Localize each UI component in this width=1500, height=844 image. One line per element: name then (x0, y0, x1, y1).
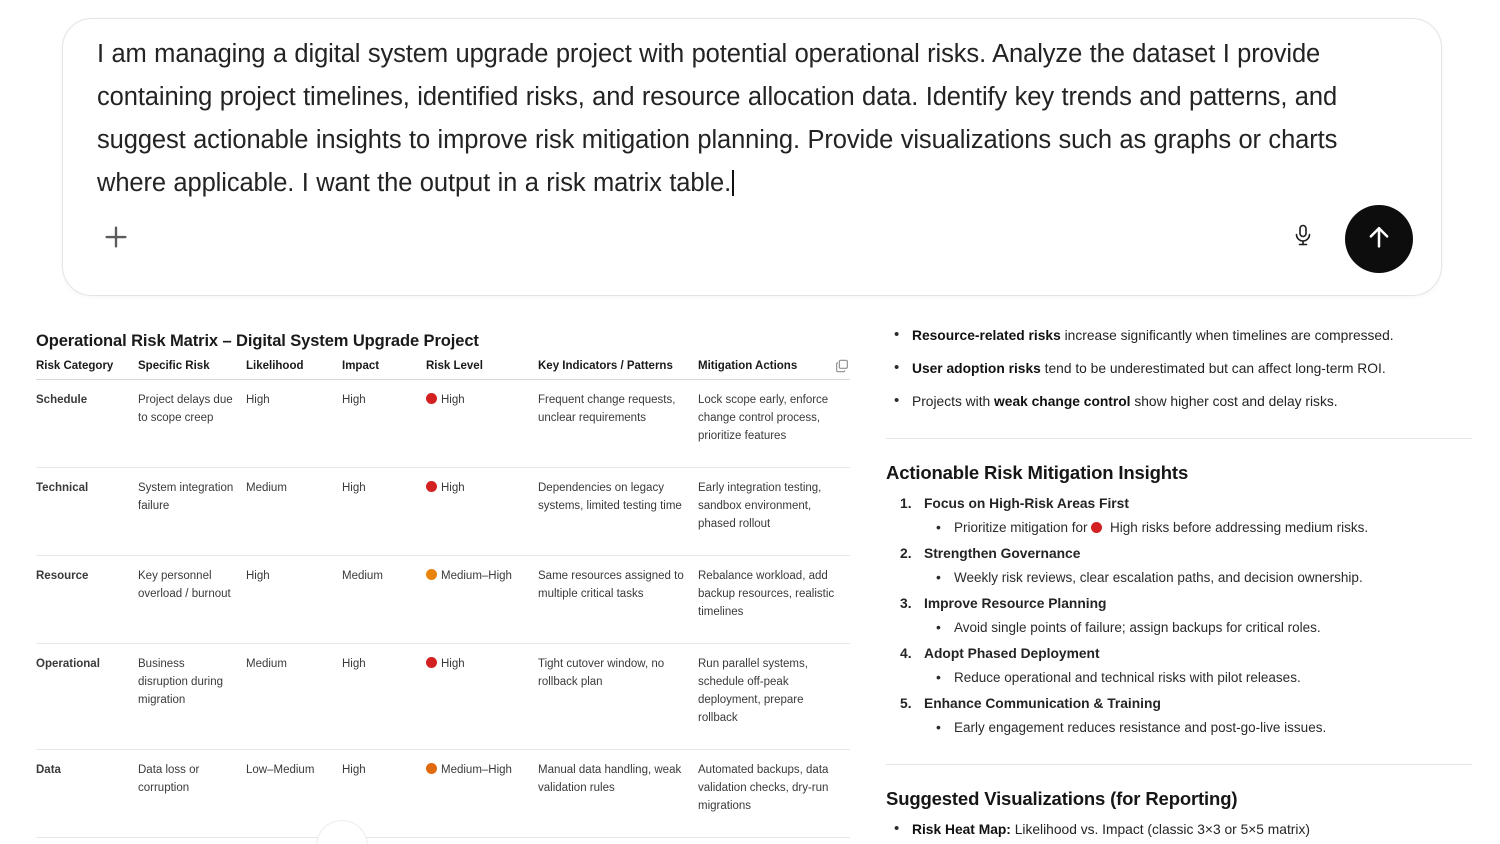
table-title: Operational Risk Matrix – Digital System… (36, 332, 850, 351)
cell-specific-risk: Data loss or corruption (138, 750, 246, 838)
cell-risk-level: Medium (426, 838, 538, 844)
cell-mitigation: Rebalance workload, add backup resources… (698, 556, 850, 644)
actionable-step-item: Strengthen GovernanceWeekly risk reviews… (886, 542, 1472, 590)
cell-risk-level: Medium–High (426, 750, 538, 838)
actionable-insights-heading: Actionable Risk Mitigation Insights (886, 461, 1472, 485)
key-trend-item: Resource-related risks increase signific… (886, 324, 1472, 348)
section-divider-2 (886, 764, 1472, 765)
key-trend-emphasis: weak change control (994, 394, 1130, 409)
actionable-step-details: Weekly risk reviews, clear escalation pa… (924, 566, 1472, 590)
microphone-icon (1291, 223, 1315, 252)
add-attachment-button[interactable] (96, 217, 136, 257)
answer-content: Operational Risk Matrix – Digital System… (0, 318, 1500, 844)
actionable-step-detail: Early engagement reduces resistance and … (924, 716, 1472, 740)
cell-category: Vendor (36, 838, 138, 844)
actionable-step-details: Prioritize mitigation for High risks bef… (924, 516, 1472, 540)
cell-category: Data (36, 750, 138, 838)
visualization-item: Risk Heat Map: Likelihood vs. Impact (cl… (886, 818, 1472, 842)
key-trends-list: Resource-related risks increase signific… (886, 324, 1472, 414)
risk-level-label: High (441, 658, 465, 670)
actionable-step-detail: Reduce operational and technical risks w… (924, 666, 1472, 690)
copy-icon[interactable] (834, 358, 850, 377)
table-header-row: Risk Category Specific Risk Likelihood I… (36, 360, 850, 380)
actionable-step-details: Avoid single points of failure; assign b… (924, 616, 1472, 640)
cell-specific-risk: Key personnel overload / burnout (138, 556, 246, 644)
cell-impact: High (342, 380, 426, 468)
cell-impact: Medium (342, 556, 426, 644)
col-header-mitigation-label: Mitigation Actions (698, 360, 797, 372)
cell-key-indicators: Manual data handling, weak validation ru… (538, 750, 698, 838)
cell-likelihood: High (246, 556, 342, 644)
cell-category: Schedule (36, 380, 138, 468)
key-trend-emphasis: Resource-related risks (912, 328, 1061, 343)
col-header-risk-level: Risk Level (426, 360, 538, 380)
col-header-mitigation-actions: Mitigation Actions (698, 360, 850, 380)
actionable-steps-list: Focus on High-Risk Areas FirstPrioritize… (886, 492, 1472, 740)
actionable-step-detail: Weekly risk reviews, clear escalation pa… (924, 566, 1472, 590)
risk-level-label: Medium–High (441, 570, 512, 582)
cell-category: Technical (36, 468, 138, 556)
actionable-step-title: Focus on High-Risk Areas First (924, 492, 1472, 516)
actionable-step-details: Early engagement reduces resistance and … (924, 716, 1472, 740)
table-row: ScheduleProject delays due to scope cree… (36, 380, 850, 468)
plus-icon (101, 222, 131, 252)
cell-key-indicators: Dependencies on legacy systems, limited … (538, 468, 698, 556)
cell-likelihood: Medium (246, 468, 342, 556)
table-row: VendorVendor delivery delaysMediumMedium… (36, 838, 850, 844)
actionable-step-item: Enhance Communication & TrainingEarly en… (886, 692, 1472, 740)
cell-category: Resource (36, 556, 138, 644)
actionable-step-title: Adopt Phased Deployment (924, 642, 1472, 666)
cell-risk-level: High (426, 644, 538, 750)
section-divider-1 (886, 438, 1472, 439)
prompt-input[interactable]: I am managing a digital system upgrade p… (97, 33, 1397, 205)
key-trend-item: User adoption risks tend to be underesti… (886, 357, 1472, 381)
cell-mitigation: Early integration testing, sandbox envir… (698, 468, 850, 556)
suggested-visualizations-heading: Suggested Visualizations (for Reporting) (886, 787, 1472, 811)
cell-mitigation: Strengthen SLA, regular vendor checkpoin… (698, 838, 850, 844)
cell-risk-level: High (426, 468, 538, 556)
table-row: TechnicalSystem integration failureMediu… (36, 468, 850, 556)
cell-mitigation: Lock scope early, enforce change control… (698, 380, 850, 468)
cell-risk-level: High (426, 380, 538, 468)
cell-key-indicators: Same resources assigned to multiple crit… (538, 556, 698, 644)
actionable-step-details: Reduce operational and technical risks w… (924, 666, 1472, 690)
send-button[interactable] (1345, 205, 1413, 273)
risk-level-dot-icon (426, 657, 437, 668)
cell-specific-risk: Business disruption during migration (138, 644, 246, 750)
actionable-step-title: Strengthen Governance (924, 542, 1472, 566)
cell-mitigation: Automated backups, data validation check… (698, 750, 850, 838)
cell-impact: High (342, 644, 426, 750)
col-header-key-indicators: Key Indicators / Patterns (538, 360, 698, 380)
risk-level-dot-icon (426, 481, 437, 492)
actionable-step-detail: Avoid single points of failure; assign b… (924, 616, 1472, 640)
table-row: ResourceKey personnel overload / burnout… (36, 556, 850, 644)
table-body: ScheduleProject delays due to scope cree… (36, 380, 850, 844)
risk-level-label: High (441, 394, 465, 406)
key-trend-item: Projects with weak change control show h… (886, 390, 1472, 414)
col-header-risk-category: Risk Category (36, 360, 138, 380)
cell-mitigation: Run parallel systems, schedule off-peak … (698, 644, 850, 750)
risk-level-dot-icon (1091, 522, 1102, 533)
prompt-text-value: I am managing a digital system upgrade p… (97, 40, 1345, 197)
risk-level-dot-icon (426, 569, 437, 580)
risk-level-dot-icon (426, 763, 437, 774)
cell-specific-risk: System integration failure (138, 468, 246, 556)
table-row: OperationalBusiness disruption during mi… (36, 644, 850, 750)
actionable-step-title: Improve Resource Planning (924, 592, 1472, 616)
composer-toolbar (63, 203, 1441, 295)
actionable-step-item: Focus on High-Risk Areas FirstPrioritize… (886, 492, 1472, 540)
col-header-likelihood: Likelihood (246, 360, 342, 380)
col-header-specific-risk: Specific Risk (138, 360, 246, 380)
risk-matrix-panel: Operational Risk Matrix – Digital System… (36, 332, 850, 844)
cell-impact: High (342, 468, 426, 556)
col-header-impact: Impact (342, 360, 426, 380)
visualization-item-name: Risk Heat Map: (912, 822, 1011, 837)
actionable-step-title: Enhance Communication & Training (924, 692, 1472, 716)
risk-level-label: Medium–High (441, 764, 512, 776)
actionable-step-item: Improve Resource PlanningAvoid single po… (886, 592, 1472, 640)
risk-level-dot-icon (426, 393, 437, 404)
text-caret (732, 170, 734, 196)
cell-specific-risk: Vendor delivery delays (138, 838, 246, 844)
cell-likelihood: High (246, 380, 342, 468)
voice-input-button[interactable] (1285, 219, 1321, 255)
cell-specific-risk: Project delays due to scope creep (138, 380, 246, 468)
actionable-step-detail: Prioritize mitigation for High risks bef… (924, 516, 1472, 540)
cell-category: Operational (36, 644, 138, 750)
cell-key-indicators: Frequent change requests, unclear requir… (538, 380, 698, 468)
cell-key-indicators: Tight cutover window, no rollback plan (538, 644, 698, 750)
actionable-step-item: Adopt Phased DeploymentReduce operationa… (886, 642, 1472, 690)
table-row: DataData loss or corruptionLow–MediumHig… (36, 750, 850, 838)
risk-matrix-table: Risk Category Specific Risk Likelihood I… (36, 360, 850, 844)
cell-likelihood: Medium (246, 644, 342, 750)
suggested-visualizations-list: Risk Heat Map: Likelihood vs. Impact (cl… (886, 818, 1472, 844)
cell-risk-level: Medium–High (426, 556, 538, 644)
prompt-composer[interactable]: I am managing a digital system upgrade p… (62, 18, 1442, 296)
risk-level-label: High (441, 482, 465, 494)
cell-key-indicators: Missed milestones, unclear SLA (538, 838, 698, 844)
insights-panel: Resource-related risks increase signific… (886, 324, 1472, 844)
key-trend-emphasis: User adoption risks (912, 361, 1041, 376)
send-arrow-up-icon (1364, 222, 1394, 257)
